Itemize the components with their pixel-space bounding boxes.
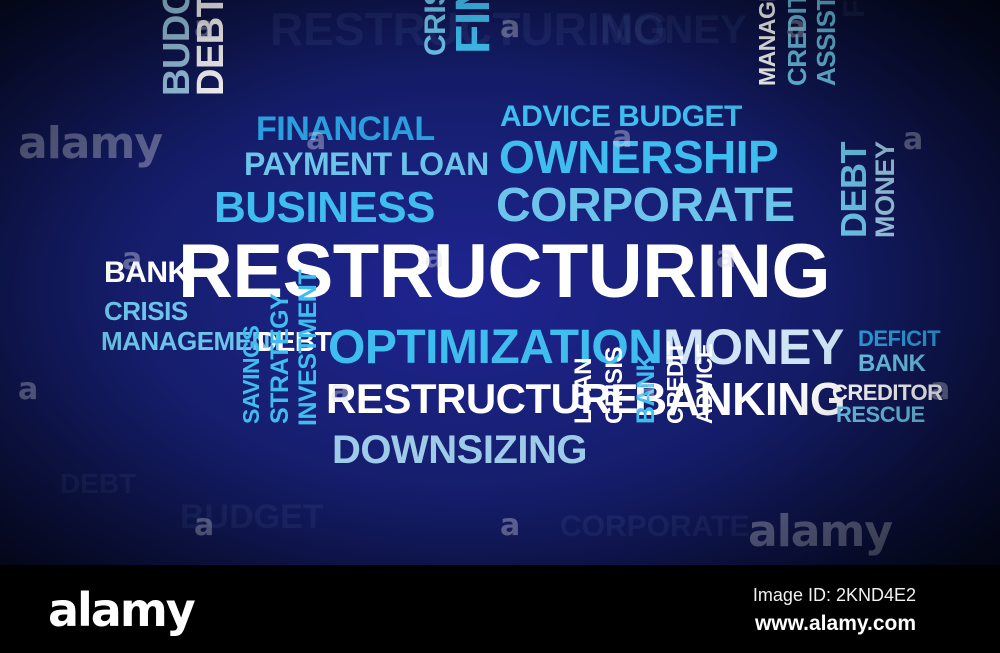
cloud-word-ownership: OWNERSHIP <box>499 134 778 180</box>
cloud-word-crisis: CRISIS <box>603 347 627 424</box>
alamy-watermark: alamy <box>18 118 162 169</box>
ghost-word: DEBT <box>60 470 136 498</box>
cloud-word-finance: FINANCE <box>450 0 498 54</box>
alamy-watermark: a <box>903 122 922 157</box>
alamy-logo: alamy <box>48 583 194 637</box>
image-id-label: Image ID: 2KND4E2 <box>753 585 916 606</box>
cloud-word-bank: BANK <box>858 352 925 376</box>
cloud-word-debt: DEBT <box>192 0 230 96</box>
cloud-word-strategy: STRATEGY <box>268 294 293 424</box>
cloud-word-financial: FINANCIAL <box>256 112 435 146</box>
cloud-word-savings: SAVINGS <box>240 326 263 424</box>
cloud-word-money: MONEY <box>663 322 844 372</box>
cloud-word-money: MONEY <box>872 141 899 238</box>
alamy-footer-bar: alamy Image ID: 2KND4E2 www.alamy.com <box>0 565 1000 653</box>
cloud-word-assistance: ASSISTANCE <box>813 0 839 86</box>
cloud-word-advice-budget: ADVICE BUDGET <box>500 102 742 132</box>
cloud-word-downsizing: DOWNSIZING <box>332 430 587 470</box>
screenshot-canvas: RESTRUCTURINGMONEYFINANCEBUDGETCORPORATE… <box>0 0 1000 653</box>
cloud-word-deficit: DEFICIT <box>858 328 940 350</box>
cloud-word-credit: CREDIT <box>784 0 810 86</box>
cloud-word-bank: BANK <box>104 258 189 288</box>
cloud-word-investment: INVESTMENT <box>296 270 321 426</box>
ghost-word: BUDGET <box>180 500 324 534</box>
cloud-word-loan: LOAN <box>572 358 596 424</box>
alamy-watermark: a <box>500 10 519 45</box>
alamy-watermark: a <box>500 508 519 543</box>
cloud-word-debt: DEBT <box>836 142 872 238</box>
cloud-word-credit: CREDIT <box>664 341 687 424</box>
cloud-word-advice: ADVICE <box>694 344 716 424</box>
alamy-watermark: alamy <box>748 506 892 557</box>
word-cloud: RESTRUCTURINGMONEYFINANCEBUDGETCORPORATE… <box>0 0 1000 565</box>
cloud-word-business: BUSINESS <box>214 186 435 230</box>
alamy-watermark: a <box>18 372 37 407</box>
cloud-word-payment-loan: PAYMENT LOAN <box>244 148 489 180</box>
cloud-word-rescue: RESCUE <box>836 404 925 426</box>
cloud-word-bank: BANK <box>634 354 659 424</box>
cloud-word-manage: MANAGE <box>756 0 779 86</box>
alamy-watermark: a <box>194 508 213 543</box>
cloud-word-creditor: CREDITOR <box>832 382 943 404</box>
ghost-word: FINANCE <box>840 0 870 18</box>
cloud-word-corporate: CORPORATE <box>496 182 795 230</box>
ghost-word: MONEY <box>600 10 747 50</box>
cloud-word-crisis: CRISIS <box>104 298 188 324</box>
ghost-word: CORPORATE <box>560 512 749 542</box>
alamy-url-label[interactable]: www.alamy.com <box>755 612 916 636</box>
